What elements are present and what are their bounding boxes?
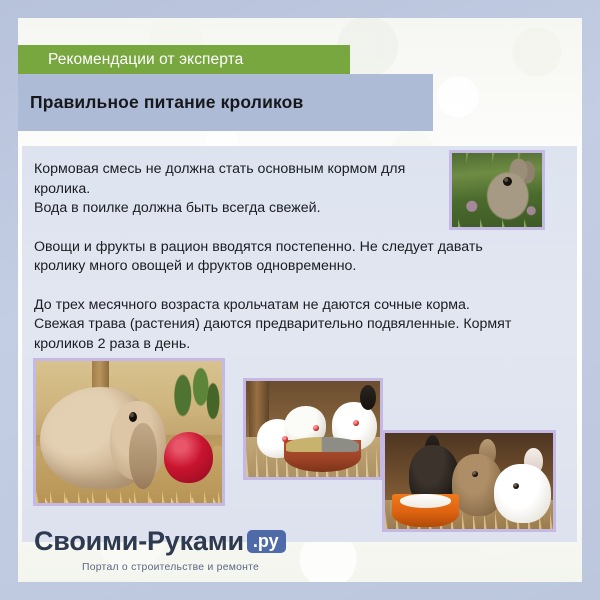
- white-rabbit: [494, 464, 551, 524]
- paragraph-2-line-1: Овощи и фрукты в рацион вводятся постепе…: [34, 238, 539, 258]
- paragraph-3-line-2: Свежая трава (растения) даются предварит…: [34, 315, 539, 335]
- rabbit-eye-left: [282, 436, 288, 442]
- bowl-contents: [400, 494, 450, 507]
- logo-wordmark: Своими-Руками: [34, 528, 244, 555]
- grass-background: [452, 153, 542, 227]
- expert-recommendation-banner: Рекомендации от эксперта: [18, 45, 350, 74]
- paragraph-2-line-2: кролику много овощей и фруктов одновреме…: [34, 257, 539, 277]
- logo-tagline: Портал о строительстве и ремонте: [82, 562, 286, 573]
- site-logo[interactable]: Своими-Руками .ру Портал о строительстве…: [34, 528, 286, 573]
- lop-rabbit-with-beet-photo: [33, 358, 225, 506]
- wild-rabbit-image: [452, 153, 542, 227]
- page-title: Правильное питание кроликов: [30, 92, 303, 113]
- infographic-poster: Рекомендации от эксперта Правильное пита…: [0, 0, 600, 600]
- banner-label: Рекомендации от эксперта: [48, 51, 243, 69]
- lop-rabbit-image: [36, 361, 222, 503]
- paragraph-3-line-3: кроликов 2 раза в день.: [34, 335, 539, 355]
- white-rabbits-at-feeder-photo: [243, 378, 383, 480]
- rabbits-at-orange-bowl-photo: [382, 430, 556, 532]
- black-ear: [360, 385, 376, 410]
- red-beet: [164, 432, 212, 483]
- logo-domain-badge: .ру: [247, 530, 286, 553]
- paragraph-1-line-1: Кормовая смесь не должна стать основным …: [34, 160, 449, 180]
- paragraph-spacer-2: [34, 277, 539, 296]
- mixed-feed: [286, 437, 358, 452]
- beet-greens: [166, 367, 222, 438]
- orange-bowl-image: [385, 433, 553, 529]
- rabbit-lop-ear: [129, 423, 157, 488]
- title-bar: Правильное питание кроликов: [18, 74, 433, 131]
- white-rabbits-image: [246, 381, 380, 477]
- logo-wordmark-row: Своими-Руками .ру: [34, 528, 286, 555]
- paragraph-3-line-1: До трех месячного возраста крольчатам не…: [34, 296, 539, 316]
- wild-rabbit-in-grass-photo: [449, 150, 545, 230]
- white-rabbit-eye: [513, 483, 519, 489]
